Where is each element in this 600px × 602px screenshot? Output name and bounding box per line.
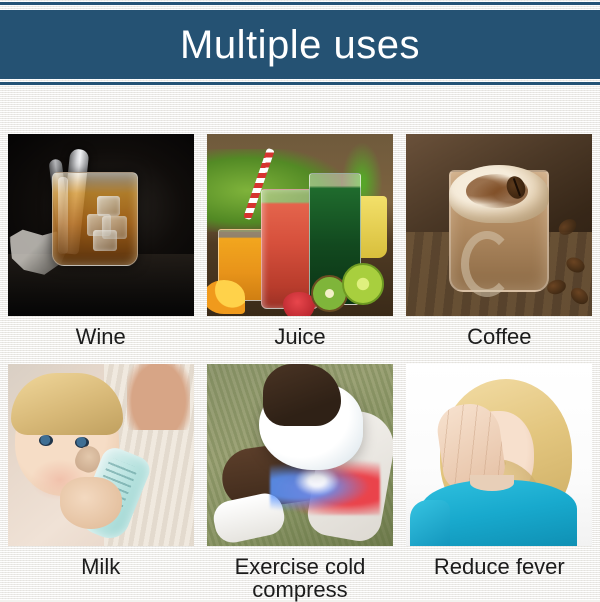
use-label-reduce-fever: Reduce fever bbox=[434, 555, 565, 578]
use-label-milk: Milk bbox=[81, 555, 120, 578]
banner-bottom-rule bbox=[0, 82, 600, 85]
header-banner: Multiple uses bbox=[0, 0, 600, 86]
use-card-juice: Juice bbox=[205, 134, 394, 360]
uses-grid: Wine Juice bbox=[6, 134, 594, 596]
use-label-wine: Wine bbox=[76, 325, 126, 348]
whiskey-glass bbox=[52, 172, 138, 266]
ice-pack-on-knee-image bbox=[207, 364, 393, 546]
use-label-juice: Juice bbox=[274, 325, 325, 348]
woman-with-fever-headache-image bbox=[406, 364, 592, 546]
whiskey-glass-with-ice-cubes-and-tongs-image bbox=[8, 134, 194, 316]
page-title: Multiple uses bbox=[180, 25, 420, 65]
use-card-reduce-fever: Reduce fever bbox=[405, 364, 594, 590]
mug-handle bbox=[461, 231, 513, 297]
banner-bar: Multiple uses bbox=[0, 10, 600, 79]
use-card-milk: Milk bbox=[6, 364, 195, 590]
coffee-mug-with-whipped-cream-image bbox=[406, 134, 592, 316]
pain-glow-core bbox=[294, 466, 340, 496]
use-label-coffee: Coffee bbox=[467, 325, 531, 348]
ice-cube bbox=[93, 230, 117, 251]
use-card-wine: Wine bbox=[6, 134, 195, 360]
lime-slice bbox=[342, 263, 384, 305]
assorted-fruit-juices-image bbox=[207, 134, 393, 316]
use-card-coffee: Coffee bbox=[405, 134, 594, 360]
use-card-exercise-cold-compress: Exercise cold compress bbox=[205, 364, 394, 590]
use-label-exercise-cold-compress: Exercise cold compress bbox=[235, 555, 366, 602]
baby-drinking-bottle-image bbox=[8, 364, 194, 546]
banner-top-rule bbox=[0, 2, 600, 5]
mother-neck bbox=[127, 364, 190, 430]
sleeve bbox=[410, 500, 450, 546]
orange-slice bbox=[207, 280, 245, 314]
baby-hand bbox=[60, 477, 122, 529]
hand-holding-ice-pack bbox=[263, 364, 341, 426]
